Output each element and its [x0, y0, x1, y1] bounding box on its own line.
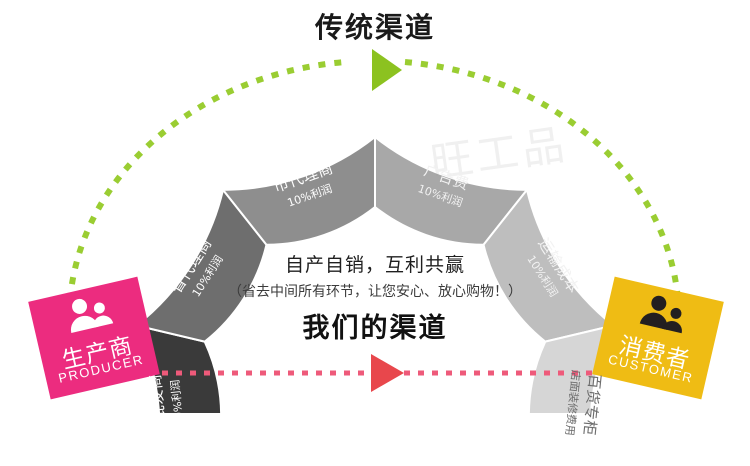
- page-title: 传统渠道: [0, 6, 750, 46]
- our-channel-title: 我们的渠道: [175, 306, 575, 345]
- center-headline: 自产自销，互利共赢: [175, 250, 575, 277]
- infographic-canvas: 传统渠道 旺工品 自产自销，互利共赢 （省去中间所有环节，让您安心、放心购物！）…: [0, 0, 750, 413]
- center-subline: （省去中间所有环节，让您安心、放心购物！）: [175, 281, 575, 301]
- red-arrow-icon: [371, 354, 404, 392]
- center-message: 自产自销，互利共赢 （省去中间所有环节，让您安心、放心购物！） 我们的渠道: [175, 250, 575, 345]
